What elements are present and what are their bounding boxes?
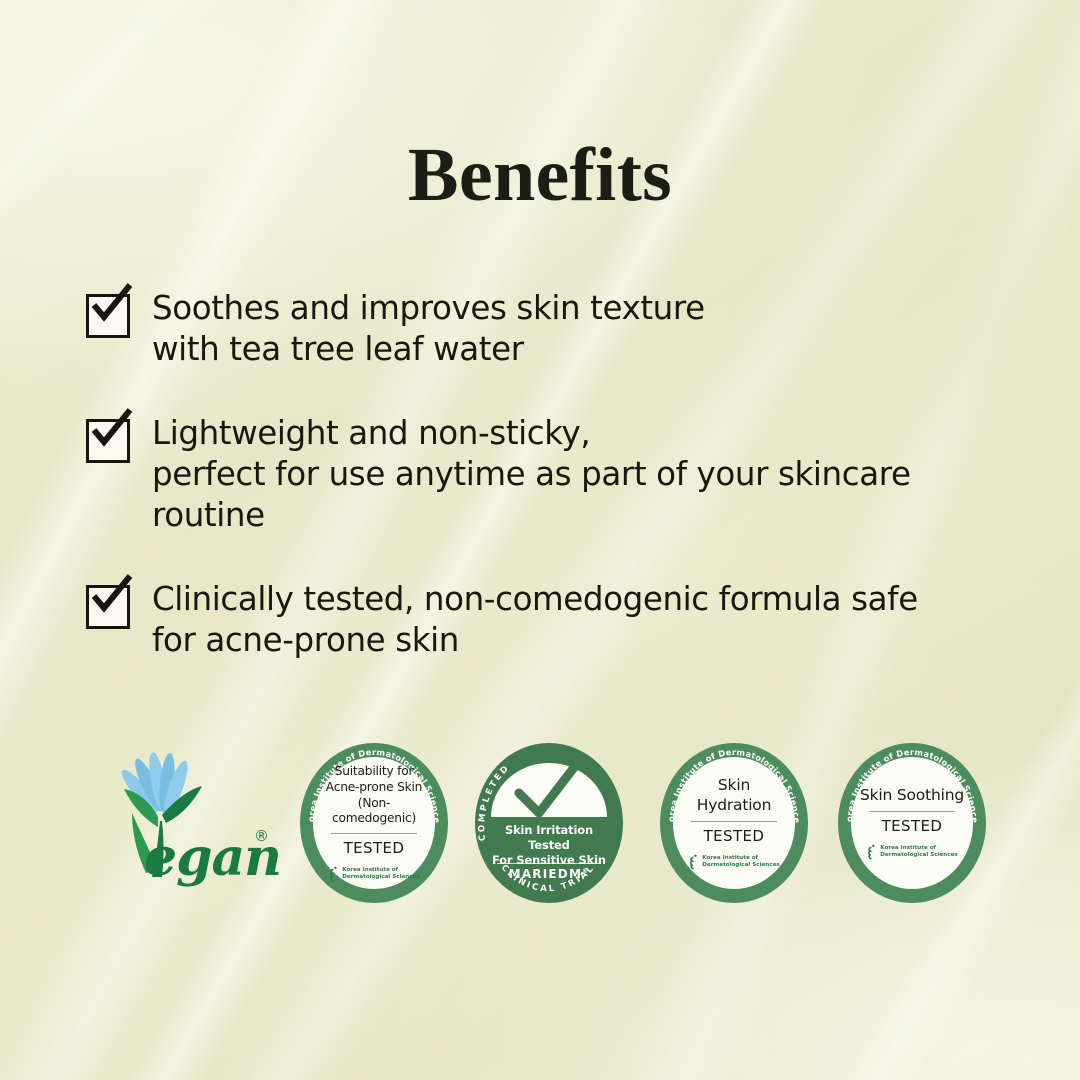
seal-clinical-trial: COMPLETED CLINICAL TRIAL Skin Irritation… bbox=[475, 743, 623, 903]
benefit-text: Lightweight and non-sticky, perfect for … bbox=[152, 413, 1016, 536]
seal-inner: Skin Irritation Tested For Sensitive Ski… bbox=[491, 763, 607, 881]
institute-logo: Korea Institute of Dermatological Scienc… bbox=[688, 854, 779, 870]
institute-logo-text: Korea Institute of Dermatological Scienc… bbox=[342, 867, 419, 881]
registered-trademark-icon: ® bbox=[254, 827, 269, 845]
institute-logo: Korea Institute of Dermatological Scienc… bbox=[328, 866, 419, 882]
benefit-line-1: Clinically tested, non-comedogenic formu… bbox=[152, 580, 918, 618]
institute-logo-text: Korea Institute of Dermatological Scienc… bbox=[880, 845, 957, 859]
institute-emblem-icon bbox=[688, 854, 699, 870]
seal-inner: Suitability for Acne-prone Skin (Non-com… bbox=[313, 757, 435, 889]
benefit-line-2: for acne-prone skin bbox=[152, 620, 918, 661]
benefits-list: Soothes and improves skin texture with t… bbox=[86, 288, 1016, 704]
page-title: Benefits bbox=[0, 132, 1080, 219]
seal-main-text: Skin Irritation Tested For Sensitive Ski… bbox=[491, 823, 607, 867]
benefit-text: Soothes and improves skin texture with t… bbox=[152, 288, 705, 370]
benefit-line-1: Lightweight and non-sticky, bbox=[152, 414, 590, 452]
seal-inner: Skin Soothing TESTED Korea Institute of … bbox=[851, 757, 973, 889]
seal-main-text: Skin Hydration bbox=[673, 776, 795, 816]
vegan-certification-logo: egan ® bbox=[86, 749, 276, 909]
list-item: Lightweight and non-sticky, perfect for … bbox=[86, 413, 1016, 536]
seal-acne-prone: Korea Institute of Dermatological Scienc… bbox=[300, 743, 448, 903]
seal-divider bbox=[869, 811, 955, 812]
checkbox-checked-icon bbox=[86, 294, 130, 338]
institute-emblem-icon bbox=[328, 866, 339, 882]
institute-emblem-icon bbox=[866, 844, 877, 860]
certification-seals: egan ® Korea Institute of Dermatological… bbox=[0, 735, 1080, 935]
seal-divider bbox=[691, 821, 777, 822]
seal-status: TESTED bbox=[704, 827, 765, 845]
benefit-line-2: perfect for use anytime as part of your … bbox=[152, 454, 1016, 536]
seal-main-text: Skin Soothing bbox=[854, 786, 970, 806]
checkmark-icon bbox=[513, 765, 585, 823]
benefit-text: Clinically tested, non-comedogenic formu… bbox=[152, 579, 918, 661]
seal-skin-soothing: Korea Institute of Dermatological Scienc… bbox=[838, 743, 986, 903]
checkbox-checked-icon bbox=[86, 419, 130, 463]
seal-status: TESTED bbox=[344, 839, 405, 857]
benefit-line-1: Soothes and improves skin texture bbox=[152, 289, 705, 327]
checkbox-checked-icon bbox=[86, 585, 130, 629]
institute-logo-text: Korea Institute of Dermatological Scienc… bbox=[702, 855, 779, 869]
product-benefits-graphic: Benefits Soothes and improves skin textu… bbox=[0, 0, 1080, 1080]
institute-logo: Korea Institute of Dermatological Scienc… bbox=[866, 844, 957, 860]
list-item: Soothes and improves skin texture with t… bbox=[86, 288, 1016, 370]
seal-skin-hydration: Korea Institute of Dermatological Scienc… bbox=[660, 743, 808, 903]
seal-main-text: Suitability for Acne-prone Skin (Non-com… bbox=[313, 764, 435, 826]
seal-brand: MARIEDM® bbox=[491, 867, 607, 881]
benefit-line-2: with tea tree leaf water bbox=[152, 329, 705, 370]
seal-divider bbox=[331, 833, 417, 834]
list-item: Clinically tested, non-comedogenic formu… bbox=[86, 579, 1016, 661]
seal-divider bbox=[497, 863, 601, 864]
seal-status: TESTED bbox=[882, 817, 943, 835]
seal-inner: Skin Hydration TESTED Korea Institute of… bbox=[673, 757, 795, 889]
